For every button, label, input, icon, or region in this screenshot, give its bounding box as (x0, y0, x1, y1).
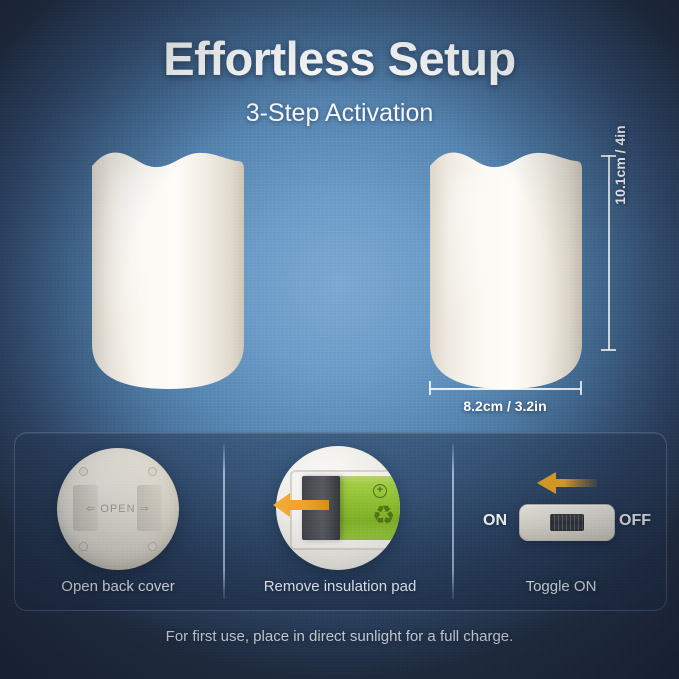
switch-on-label: ON (483, 512, 507, 530)
step-divider-1 (223, 444, 225, 599)
candle-image-left (86, 148, 250, 391)
width-dimension-label: 8.2cm / 3.2in (429, 398, 581, 414)
height-dimension-label: 10.1cm / 4in (612, 110, 628, 220)
page-subtitle: 3-Step Activation (0, 99, 679, 128)
cover-screw-bottom-right (148, 542, 157, 551)
step-3-caption: Toggle ON (466, 578, 656, 595)
step-2-caption: Remove insulation pad (240, 578, 440, 595)
cover-open-label: ⇐ OPEN ⇒ (57, 502, 179, 515)
candle-image-right (424, 148, 588, 391)
width-dimension-cap-left (429, 381, 431, 395)
battery-cell: + ♻ (332, 476, 400, 540)
step-divider-2 (452, 444, 454, 599)
switch-slider (550, 514, 584, 531)
footer-note: For first use, place in direct sunlight … (0, 628, 679, 645)
width-dimension-line (429, 388, 581, 390)
cover-screw-top-right (148, 467, 157, 476)
back-cover-illustration: ⇐ OPEN ⇒ (57, 448, 179, 570)
page-title: Effortless Setup (0, 31, 679, 86)
cover-screw-bottom-left (79, 542, 88, 551)
battery-plus-terminal-icon: + (373, 484, 387, 498)
switch-off-label: OFF (619, 512, 651, 530)
step-1-caption: Open back cover (14, 578, 222, 595)
product-infographic: Effortless Setup 3-Step Activation (0, 0, 679, 679)
candle-silhouette-icon (86, 148, 250, 391)
height-dimension-line (608, 155, 610, 350)
recycle-icon: ♻ (372, 502, 395, 528)
cover-screw-top-left (79, 467, 88, 476)
pull-arrow-icon (272, 490, 330, 520)
height-dimension-cap-bottom (601, 349, 616, 351)
candle-silhouette-icon (424, 148, 588, 391)
toggle-arrow-icon (536, 470, 598, 496)
power-switch-illustration (519, 504, 615, 541)
width-dimension-cap-right (580, 381, 582, 395)
